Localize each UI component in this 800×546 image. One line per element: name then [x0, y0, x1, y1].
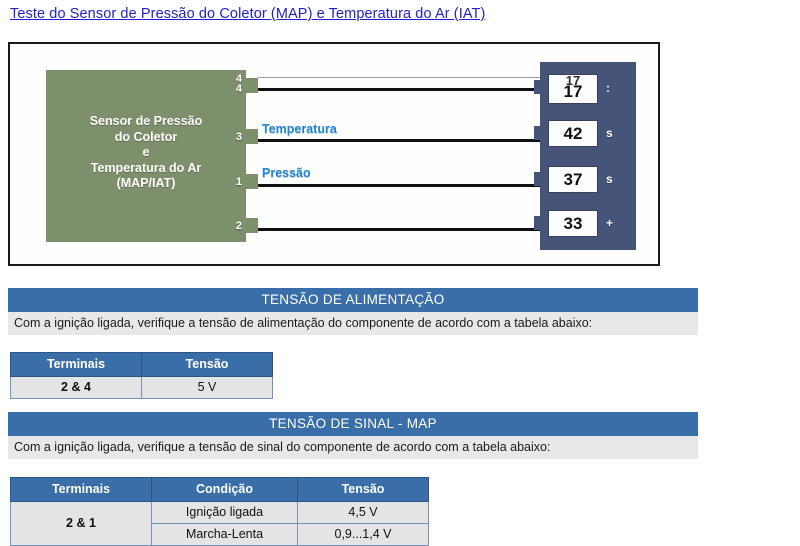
wire-pin2: [258, 228, 548, 231]
section-header-alimentacao: TENSÃO DE ALIMENTAÇÃO: [8, 288, 698, 312]
connector-symbol-plus: +: [606, 217, 613, 229]
wire-label-pressao: Pressão: [262, 167, 311, 180]
wire-pin4-ghost: [258, 77, 548, 78]
sensor-pin-number-4: 4: [228, 84, 242, 95]
column-header-terminais: Terminais: [11, 353, 142, 377]
section-tensao-alimentacao: TENSÃO DE ALIMENTAÇÃO Com a ignição liga…: [8, 288, 698, 335]
connector-slot-37: [534, 172, 545, 186]
connector-pin-box-17: 17 17: [548, 74, 598, 104]
cell-tensao: 0,9...1,4 V: [298, 524, 429, 546]
connector-pin-17-value: 17: [564, 82, 583, 101]
cell-terminais: 2 & 4: [11, 377, 142, 399]
connector-symbol-s-temperatura: s: [606, 127, 613, 139]
cell-condicao: Marcha-Lenta: [152, 524, 298, 546]
table-row: 2 & 4 5 V: [11, 377, 273, 399]
table-header-row: Terminais Condição Tensão: [11, 478, 429, 502]
section-header-sinal-map: TENSÃO DE SINAL - MAP: [8, 412, 698, 436]
section-description-alimentacao: Com a ignição ligada, verifique a tensão…: [8, 312, 698, 335]
sensor-pin-number-3: 3: [228, 132, 242, 143]
sensor-pin-tab-1: [246, 174, 258, 189]
connector-slot-42: [534, 126, 545, 140]
cell-condicao: Ignição ligada: [152, 502, 298, 524]
wire-pin1: [258, 184, 548, 187]
wiring-diagram-canvas: Sensor de Pressão do Coletor e Temperatu…: [10, 44, 658, 264]
column-header-condicao: Condição: [152, 478, 298, 502]
table-header-row: Terminais Tensão: [11, 353, 273, 377]
sensor-pin-number-2: 2: [228, 221, 242, 232]
table-row: 2 & 1 Ignição ligada 4,5 V: [11, 502, 429, 524]
section-tensao-sinal-map: TENSÃO DE SINAL - MAP Com a ignição liga…: [8, 412, 698, 459]
connector-pin-box-37: 37: [548, 166, 598, 193]
sensor-pin-tab-4: [246, 78, 258, 93]
wire-pin4: [258, 88, 548, 91]
wire-pin3: [258, 139, 548, 142]
column-header-tensao: Tensão: [142, 353, 273, 377]
wire-label-temperatura: Temperatura: [262, 123, 337, 136]
cell-tensao: 4,5 V: [298, 502, 429, 524]
connector-slot-17: [534, 80, 545, 94]
connector-pin-box-42: 42: [548, 120, 598, 147]
wiring-diagram-frame: Sensor de Pressão do Coletor e Temperatu…: [8, 42, 660, 266]
sensor-pin-number-1: 1: [228, 177, 242, 188]
cell-terminais: 2 & 1: [11, 502, 152, 546]
table-tensao-sinal-map: Terminais Condição Tensão 2 & 1 Ignição …: [10, 477, 429, 546]
connector-symbol-colon: :: [606, 82, 610, 94]
sensor-pin-tab-3: [246, 129, 258, 144]
connector-pin-box-33: 33: [548, 210, 598, 237]
connector-slot-33: [534, 216, 545, 230]
column-header-tensao: Tensão: [298, 478, 429, 502]
sensor-body: Sensor de Pressão do Coletor e Temperatu…: [46, 70, 246, 242]
cell-tensao: 5 V: [142, 377, 273, 399]
ecu-connector-block: 17 17 : 42 s 37 s 33 +: [540, 62, 636, 250]
column-header-terminais: Terminais: [11, 478, 152, 502]
sensor-pin-tab-2: [246, 218, 258, 233]
page-title-link[interactable]: Teste do Sensor de Pressão do Coletor (M…: [10, 6, 485, 22]
sensor-body-label: Sensor de Pressão do Coletor e Temperatu…: [46, 114, 246, 192]
section-description-sinal-map: Com a ignição ligada, verifique a tensão…: [8, 436, 698, 459]
connector-symbol-s-pressao: s: [606, 173, 613, 185]
table-tensao-alimentacao: Terminais Tensão 2 & 4 5 V: [10, 352, 273, 399]
